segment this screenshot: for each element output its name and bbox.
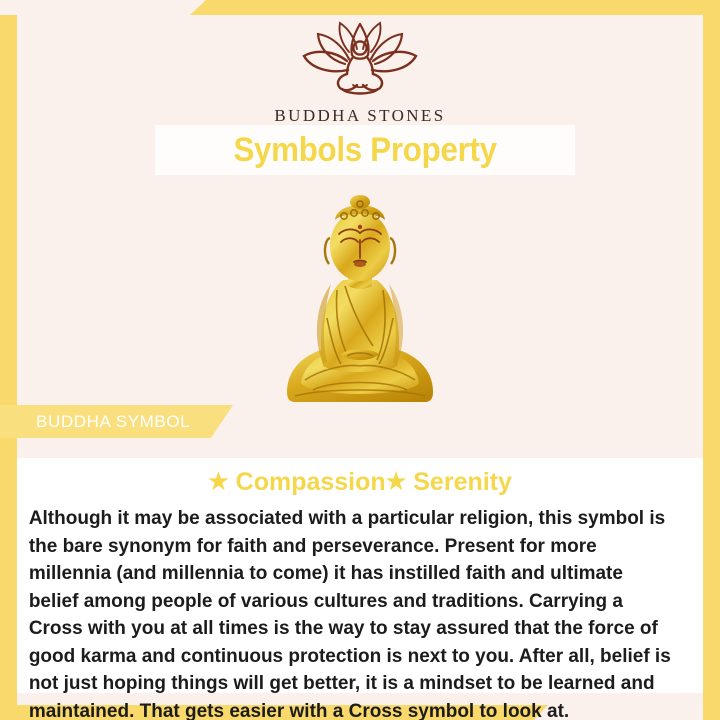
subtitle-word-compassion: Compassion [229, 468, 386, 496]
hero-ribbon: BUDDHA SYMBOL [0, 405, 233, 438]
infographic-page: BUDDHA STONES Symbols Property [0, 0, 720, 720]
brand-block: BUDDHA STONES [0, 18, 720, 126]
body-paragraph: Although it may be associated with a par… [17, 497, 693, 720]
star-icon-1: ★ [208, 468, 229, 494]
title-banner: Symbols Property [155, 125, 575, 175]
ribbon-label: BUDDHA SYMBOL [0, 412, 190, 432]
brand-name: BUDDHA STONES [0, 106, 720, 126]
decorative-band-top [190, 0, 720, 15]
golden-seated-buddha-icon [265, 178, 455, 408]
lotus-meditation-icon [285, 18, 435, 102]
content-subtitle: ★ Compassion★ Serenity [17, 458, 703, 497]
page-title: Symbols Property [233, 131, 496, 170]
buddha-figure [0, 178, 720, 408]
content-card: ★ Compassion★ Serenity Although it may b… [17, 458, 703, 693]
star-icon-2: ★ [386, 468, 407, 494]
subtitle-word-serenity: Serenity [406, 468, 512, 496]
